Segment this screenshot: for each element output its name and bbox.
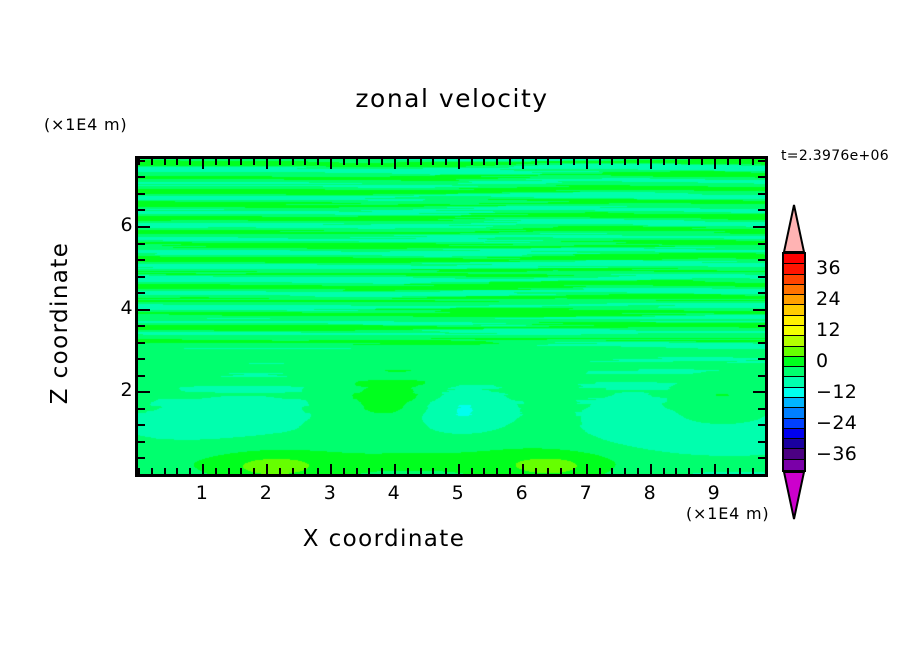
colorbar-tick-label: −36	[816, 443, 857, 465]
x-minor-tick-top	[560, 159, 562, 165]
x-minor-tick-top	[420, 159, 422, 165]
x-axis-tick-label: 8	[630, 482, 670, 504]
y-minor-tick-right	[758, 193, 765, 195]
x-major-tick	[266, 464, 268, 474]
x-major-tick-top	[522, 159, 524, 169]
x-minor-tick	[637, 468, 639, 474]
x-minor-tick-top	[356, 159, 358, 165]
x-major-tick	[586, 464, 588, 474]
x-minor-tick	[739, 468, 741, 474]
contour-plot-area[interactable]	[135, 156, 768, 477]
x-minor-tick-top	[637, 159, 639, 165]
colorbar-band	[784, 408, 804, 418]
y-minor-tick-right	[758, 276, 765, 278]
y-minor-tick	[138, 342, 145, 344]
x-major-tick	[650, 464, 652, 474]
colorbar-tick-label: 12	[816, 319, 841, 341]
colorbar-band	[784, 419, 804, 429]
x-axis-tick-label: 6	[502, 482, 542, 504]
x-minor-tick-top	[509, 159, 511, 165]
y-major-tick-right	[753, 226, 765, 228]
x-minor-tick	[343, 468, 345, 474]
x-minor-tick	[253, 468, 255, 474]
x-minor-tick-top	[407, 159, 409, 165]
y-minor-tick-right	[758, 160, 765, 162]
x-minor-tick	[356, 468, 358, 474]
x-minor-tick	[765, 468, 767, 474]
x-minor-tick-top	[317, 159, 319, 165]
y-minor-tick	[138, 408, 145, 410]
colorbar-band	[784, 439, 804, 449]
x-axis-tick-label: 3	[310, 482, 350, 504]
x-minor-tick-top	[176, 159, 178, 165]
x-minor-tick	[381, 468, 383, 474]
y-minor-tick	[138, 474, 145, 476]
colorbar-band	[784, 347, 804, 357]
x-minor-tick	[611, 468, 613, 474]
x-axis-tick-label: 4	[374, 482, 414, 504]
y-axis-tick-label: 4	[93, 297, 133, 319]
y-minor-tick-right	[758, 441, 765, 443]
y-minor-tick	[138, 457, 145, 459]
y-minor-tick	[138, 424, 145, 426]
colorbar-band	[784, 377, 804, 387]
x-minor-tick	[420, 468, 422, 474]
y-major-tick-right	[753, 309, 765, 311]
x-major-tick	[458, 464, 460, 474]
x-minor-tick-top	[368, 159, 370, 165]
colorbar-band	[784, 460, 804, 470]
x-minor-tick	[675, 468, 677, 474]
y-minor-tick-right	[758, 358, 765, 360]
x-minor-tick-top	[765, 159, 767, 165]
y-minor-tick-right	[758, 209, 765, 211]
colorbar-cap-bottom-icon	[782, 471, 806, 520]
x-minor-tick	[573, 468, 575, 474]
x-minor-tick-top	[701, 159, 703, 165]
x-minor-tick	[407, 468, 409, 474]
colorbar-band	[784, 367, 804, 377]
x-major-tick	[330, 464, 332, 474]
x-minor-tick-top	[381, 159, 383, 165]
x-minor-tick-top	[688, 159, 690, 165]
x-minor-tick	[727, 468, 729, 474]
y-minor-tick-right	[758, 375, 765, 377]
x-minor-tick-top	[164, 159, 166, 165]
colorbar-band	[784, 336, 804, 346]
x-minor-tick-top	[573, 159, 575, 165]
colorbar-band	[784, 316, 804, 326]
y-minor-tick-right	[758, 176, 765, 178]
y-minor-tick	[138, 292, 145, 294]
colorbar-band	[784, 264, 804, 274]
y-major-tick-right	[753, 391, 765, 393]
colorbar-tick-label: −12	[816, 381, 857, 403]
x-axis-tick-label: 9	[694, 482, 734, 504]
x-minor-tick	[164, 468, 166, 474]
y-minor-tick	[138, 209, 145, 211]
colorbar-band	[784, 357, 804, 367]
colorbar-band	[784, 285, 804, 295]
y-major-tick	[138, 391, 150, 393]
colorbar-band	[784, 275, 804, 285]
y-axis-tick-label: 6	[93, 214, 133, 236]
x-minor-tick-top	[279, 159, 281, 165]
colorbar-tick-label: 24	[816, 288, 841, 310]
x-major-tick-top	[266, 159, 268, 169]
colorbar-band	[784, 429, 804, 439]
x-minor-tick-top	[304, 159, 306, 165]
colorbar-band	[784, 326, 804, 336]
x-minor-tick	[240, 468, 242, 474]
x-axis-tick-label: 7	[566, 482, 606, 504]
x-minor-tick-top	[496, 159, 498, 165]
x-minor-tick	[663, 468, 665, 474]
y-minor-tick-right	[758, 474, 765, 476]
x-major-tick	[522, 464, 524, 474]
x-minor-tick-top	[483, 159, 485, 165]
x-minor-tick-top	[228, 159, 230, 165]
y-minor-tick	[138, 243, 145, 245]
x-minor-tick	[471, 468, 473, 474]
x-minor-tick	[176, 468, 178, 474]
colorbar-band	[784, 295, 804, 305]
y-axis-tick-label: 2	[93, 379, 133, 401]
x-minor-tick-top	[215, 159, 217, 165]
x-minor-tick	[483, 468, 485, 474]
x-minor-tick-top	[547, 159, 549, 165]
y-minor-tick-right	[758, 325, 765, 327]
x-minor-tick-top	[727, 159, 729, 165]
x-minor-tick	[547, 468, 549, 474]
x-minor-tick	[509, 468, 511, 474]
x-minor-tick-top	[432, 159, 434, 165]
x-minor-tick-top	[189, 159, 191, 165]
colorbar-band	[784, 388, 804, 398]
x-minor-tick	[215, 468, 217, 474]
x-minor-tick	[368, 468, 370, 474]
colorbar-band	[784, 254, 804, 264]
y-minor-tick-right	[758, 457, 765, 459]
x-minor-tick	[560, 468, 562, 474]
y-minor-tick	[138, 176, 145, 178]
y-minor-tick	[138, 441, 145, 443]
x-minor-tick	[599, 468, 601, 474]
x-minor-tick-top	[624, 159, 626, 165]
x-minor-tick	[317, 468, 319, 474]
x-major-tick-top	[330, 159, 332, 169]
x-minor-tick	[624, 468, 626, 474]
y-minor-tick	[138, 325, 145, 327]
x-major-tick-top	[650, 159, 652, 169]
y-minor-tick	[138, 276, 145, 278]
x-major-tick	[714, 464, 716, 474]
y-major-tick	[138, 226, 150, 228]
x-minor-tick-top	[240, 159, 242, 165]
x-axis-unit-label: (×1E4 m)	[686, 504, 769, 523]
x-minor-tick	[496, 468, 498, 474]
colorbar[interactable]	[782, 204, 806, 519]
x-minor-tick-top	[599, 159, 601, 165]
y-minor-tick-right	[758, 243, 765, 245]
colorbar-tick-label: 36	[816, 257, 841, 279]
y-minor-tick	[138, 160, 145, 162]
x-major-tick-top	[586, 159, 588, 169]
y-minor-tick	[138, 259, 145, 261]
y-minor-tick-right	[758, 292, 765, 294]
x-minor-tick	[228, 468, 230, 474]
x-minor-tick-top	[292, 159, 294, 165]
x-minor-tick-top	[343, 159, 345, 165]
x-minor-tick	[304, 468, 306, 474]
y-minor-tick	[138, 358, 145, 360]
y-minor-tick	[138, 375, 145, 377]
x-minor-tick-top	[445, 159, 447, 165]
x-major-tick-top	[394, 159, 396, 169]
colorbar-band	[784, 305, 804, 315]
x-major-tick-top	[458, 159, 460, 169]
x-major-tick-top	[714, 159, 716, 169]
y-minor-tick-right	[758, 408, 765, 410]
x-minor-tick-top	[471, 159, 473, 165]
y-minor-tick-right	[758, 259, 765, 261]
contour-field-canvas	[138, 159, 765, 474]
page-title: zonal velocity	[0, 84, 904, 113]
y-axis-title: Z coordinate	[47, 223, 73, 423]
colorbar-cap-top-icon	[782, 204, 806, 253]
x-minor-tick	[445, 468, 447, 474]
x-minor-tick	[701, 468, 703, 474]
y-minor-tick	[138, 193, 145, 195]
x-minor-tick	[189, 468, 191, 474]
colorbar-bands[interactable]	[782, 252, 806, 472]
x-axis-tick-label: 5	[438, 482, 478, 504]
x-minor-tick-top	[739, 159, 741, 165]
x-major-tick	[394, 464, 396, 474]
x-axis-tick-label: 2	[246, 482, 286, 504]
x-major-tick	[202, 464, 204, 474]
x-minor-tick-top	[611, 159, 613, 165]
x-minor-tick	[688, 468, 690, 474]
y-minor-tick-right	[758, 342, 765, 344]
colorbar-band	[784, 449, 804, 459]
x-minor-tick-top	[535, 159, 537, 165]
y-minor-tick-right	[758, 424, 765, 426]
timestamp-annotation: t=2.3976e+06	[781, 148, 889, 164]
x-minor-tick	[279, 468, 281, 474]
colorbar-tick-label: 0	[816, 350, 829, 372]
x-minor-tick-top	[151, 159, 153, 165]
x-minor-tick	[752, 468, 754, 474]
x-minor-tick	[535, 468, 537, 474]
colorbar-tick-label: −24	[816, 412, 857, 434]
x-axis-tick-label: 1	[182, 482, 222, 504]
x-minor-tick	[151, 468, 153, 474]
x-minor-tick	[432, 468, 434, 474]
y-axis-unit-label: (×1E4 m)	[44, 115, 127, 134]
x-axis-title: X coordinate	[0, 526, 768, 552]
x-minor-tick	[292, 468, 294, 474]
y-major-tick	[138, 309, 150, 311]
x-minor-tick-top	[663, 159, 665, 165]
x-minor-tick-top	[675, 159, 677, 165]
colorbar-band	[784, 398, 804, 408]
x-minor-tick-top	[752, 159, 754, 165]
x-major-tick-top	[202, 159, 204, 169]
x-minor-tick-top	[253, 159, 255, 165]
